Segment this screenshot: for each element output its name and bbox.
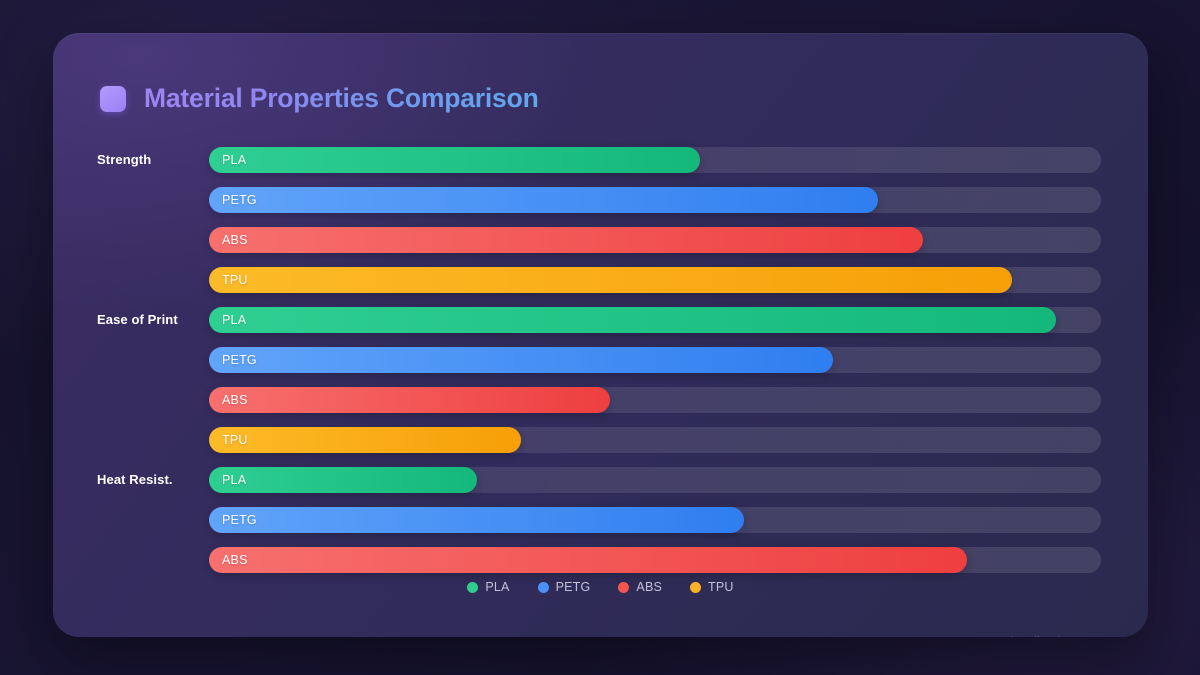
legend-swatch-icon	[618, 582, 629, 593]
bar-label: ABS	[222, 553, 248, 567]
bar-row: TPU	[53, 420, 1148, 460]
screenshot-canvas: Material Properties Comparison StrengthP…	[0, 0, 1200, 675]
legend-swatch-icon	[690, 582, 701, 593]
legend-label: ABS	[636, 580, 662, 594]
bar-tpu[interactable]: TPU	[209, 267, 1012, 293]
legend-item-pla[interactable]: PLA	[467, 580, 509, 594]
bar-row: PETG	[53, 340, 1148, 380]
rounded-square-icon	[100, 86, 126, 112]
bar-abs[interactable]: ABS	[209, 227, 923, 253]
bar-label: PLA	[222, 313, 246, 327]
bar-petg[interactable]: PETG	[209, 347, 833, 373]
bar-group: Ease of PrintPLAPETGABSTPU	[53, 300, 1148, 460]
bar-pla[interactable]: PLA	[209, 147, 700, 173]
grouped-bar-chart: StrengthPLAPETGABSTPUEase of PrintPLAPET…	[53, 140, 1148, 580]
bar-row: PETG	[53, 180, 1148, 220]
bar-label: PLA	[222, 153, 246, 167]
bar-petg[interactable]: PETG	[209, 187, 878, 213]
bar-label: PETG	[222, 513, 257, 527]
bar-row: PLA	[53, 140, 1148, 180]
legend-label: PETG	[556, 580, 591, 594]
legend-item-tpu[interactable]: TPU	[690, 580, 734, 594]
bar-track: TPU	[209, 427, 1101, 453]
bar-group: Heat Resist.PLAPETGABS	[53, 460, 1148, 580]
bar-track: ABS	[209, 547, 1101, 573]
bar-label: PLA	[222, 473, 246, 487]
legend-label: PLA	[485, 580, 509, 594]
watermark: artopiacollections.com	[981, 635, 1109, 637]
bar-track: PLA	[209, 467, 1101, 493]
bar-track: ABS	[209, 387, 1101, 413]
bar-group: StrengthPLAPETGABSTPU	[53, 140, 1148, 300]
chart-card: Material Properties Comparison StrengthP…	[53, 33, 1148, 637]
bar-pla[interactable]: PLA	[209, 467, 477, 493]
bar-row: PETG	[53, 500, 1148, 540]
bar-petg[interactable]: PETG	[209, 507, 744, 533]
bar-abs[interactable]: ABS	[209, 547, 967, 573]
bar-track: PLA	[209, 147, 1101, 173]
bar-row: TPU	[53, 260, 1148, 300]
legend-swatch-icon	[467, 582, 478, 593]
bar-pla[interactable]: PLA	[209, 307, 1056, 333]
bar-label: TPU	[222, 273, 248, 287]
bar-track: PETG	[209, 187, 1101, 213]
bar-track: PETG	[209, 507, 1101, 533]
legend-item-abs[interactable]: ABS	[618, 580, 662, 594]
bar-track: PETG	[209, 347, 1101, 373]
legend-label: TPU	[708, 580, 734, 594]
bar-label: TPU	[222, 433, 248, 447]
legend-swatch-icon	[538, 582, 549, 593]
bar-row: ABS	[53, 220, 1148, 260]
bar-label: PETG	[222, 353, 257, 367]
bar-row: PLA	[53, 460, 1148, 500]
chart-legend: PLAPETGABSTPU	[53, 580, 1148, 594]
bar-row: ABS	[53, 540, 1148, 580]
page-title: Material Properties Comparison	[144, 83, 539, 114]
bar-label: PETG	[222, 193, 257, 207]
bar-label: ABS	[222, 233, 248, 247]
bar-label: ABS	[222, 393, 248, 407]
bar-tpu[interactable]: TPU	[209, 427, 521, 453]
legend-item-petg[interactable]: PETG	[538, 580, 591, 594]
bar-row: PLA	[53, 300, 1148, 340]
bar-row: ABS	[53, 380, 1148, 420]
bar-track: TPU	[209, 267, 1101, 293]
card-header: Material Properties Comparison	[100, 83, 539, 114]
bar-abs[interactable]: ABS	[209, 387, 610, 413]
bar-track: PLA	[209, 307, 1101, 333]
bar-track: ABS	[209, 227, 1101, 253]
